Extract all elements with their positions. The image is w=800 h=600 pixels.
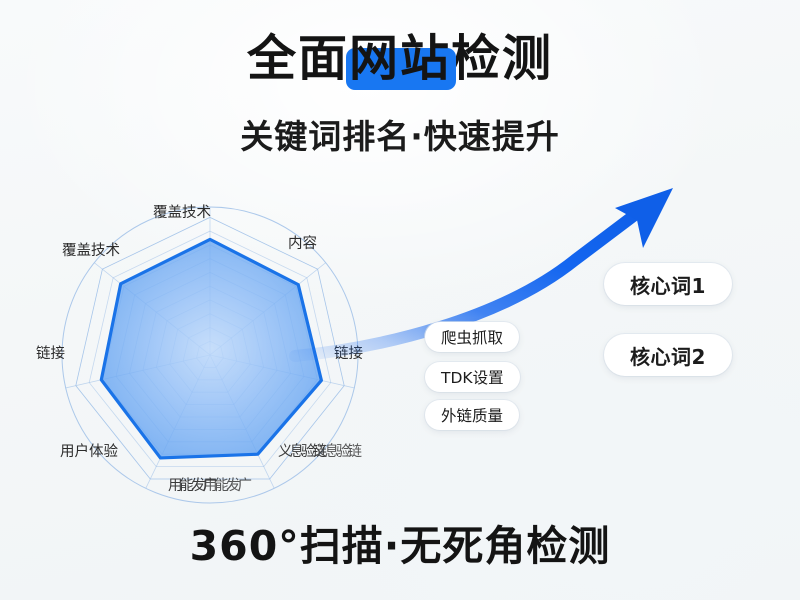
tag-pill-crawl[interactable]: 爬虫抓取 — [425, 322, 519, 352]
main-title-highlight: 网站 — [349, 34, 451, 83]
bottom-title: 360°扫描·无死角检测 — [0, 526, 800, 567]
poster-canvas: 全面网站检测 关键词排名·快速提升 覆盖技术 内容 链接 义息验链义息验链 用能… — [0, 0, 800, 600]
radar-axis-label-7: 覆盖技术 — [62, 244, 120, 259]
main-title-post: 检测 — [451, 30, 553, 87]
radar-axis-label-3: 义息验链义息验链 — [278, 445, 370, 460]
radar-axis-label-4: 用能发广用能发广 — [168, 479, 260, 494]
tag-pill-tdk[interactable]: TDK设置 — [425, 362, 520, 392]
sub-title: 关键词排名·快速提升 — [0, 120, 800, 153]
radar-axis-label-0: 覆盖技术 — [153, 206, 211, 221]
radar-axis-label-5: 用户体验 — [60, 445, 118, 460]
radar-axis-label-4-ghost: 用能发广 — [203, 478, 249, 494]
keyword-pill-2[interactable]: 核心词2 — [604, 334, 732, 376]
tag-pill-backlink[interactable]: 外链质量 — [425, 400, 519, 430]
radar-axis-label-3-ghost: 义息验链 — [313, 444, 359, 460]
main-title-pre: 全面 — [247, 30, 349, 87]
radar-axis-label-6: 链接 — [36, 347, 65, 362]
keyword-pill-1[interactable]: 核心词1 — [604, 263, 732, 305]
main-title-text: 全面网站检测 — [247, 34, 553, 83]
page-title: 全面网站检测 — [0, 34, 800, 83]
